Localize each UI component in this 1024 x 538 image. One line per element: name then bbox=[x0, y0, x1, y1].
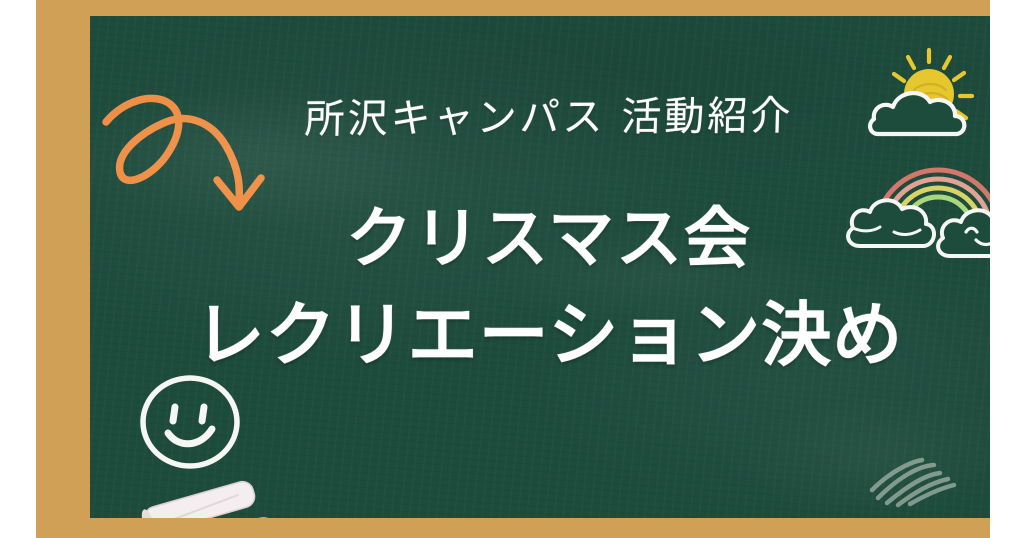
page-title-line-2: レクリエーション決め bbox=[90, 286, 990, 385]
poster-text-block: 所沢キャンパス 活動紹介 クリスマス会 レクリエーション決め bbox=[90, 16, 990, 518]
page-title: クリスマス会 レクリエーション決め bbox=[90, 192, 990, 385]
chalkboard-surface: 所沢キャンパス 活動紹介 クリスマス会 レクリエーション決め bbox=[90, 16, 990, 518]
poster-canvas: 所沢キャンパス 活動紹介 クリスマス会 レクリエーション決め bbox=[0, 0, 1024, 538]
chalk-sticks-icon bbox=[122, 468, 292, 518]
chalk-scribble-icon bbox=[858, 446, 978, 516]
sun-behind-cloud-icon bbox=[862, 38, 990, 148]
smiley-face-icon bbox=[132, 368, 252, 478]
decoration-layer bbox=[90, 16, 990, 518]
chalkboard-wooden-frame: 所沢キャンパス 活動紹介 クリスマス会 レクリエーション決め bbox=[36, 0, 990, 538]
rainbow-with-clouds-icon bbox=[838, 144, 990, 259]
page-title-line-1: クリスマス会 bbox=[90, 192, 990, 286]
poster-subtitle: 所沢キャンパス 活動紹介 bbox=[90, 91, 990, 145]
curly-arrow-icon bbox=[100, 74, 290, 224]
